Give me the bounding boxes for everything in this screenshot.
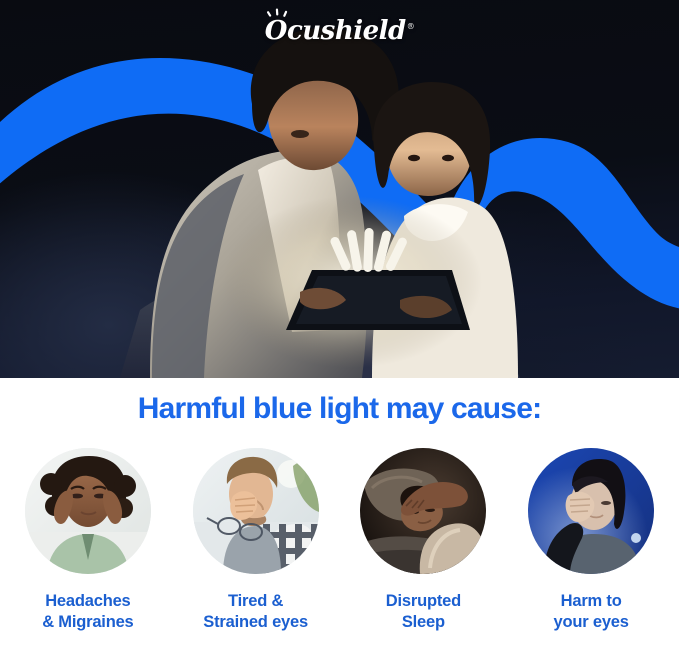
symptom-label-tired-eyes: Tired & Strained eyes: [203, 591, 308, 632]
promo-banner: Ocushield® Harmful blue light may cause:: [0, 0, 679, 661]
symptom-card-disrupted-sleep: Disrupted Sleep: [341, 448, 505, 632]
symptom-card-list: Headaches & Migraines: [0, 448, 679, 632]
symptom-label-eye-harm: Harm to your eyes: [554, 591, 629, 632]
woman-awake-in-bed-illustration: [360, 448, 486, 574]
headache-photo: [25, 448, 151, 574]
man-rubbing-eyes-illustration: [193, 448, 319, 574]
symptom-label-headaches: Headaches & Migraines: [42, 591, 133, 632]
disrupted-sleep-photo: [360, 448, 486, 574]
symptom-card-headaches: Headaches & Migraines: [6, 448, 170, 632]
symptom-card-eye-harm: Harm to your eyes: [509, 448, 673, 632]
symptom-card-tired-eyes: Tired & Strained eyes: [174, 448, 338, 632]
woman-headache-illustration: [25, 448, 151, 574]
hero-section: Ocushield®: [0, 0, 679, 378]
page-title: Harmful blue light may cause:: [0, 392, 679, 426]
hero-photo: [0, 0, 679, 378]
person-blue-screen-light-illustration: [528, 448, 654, 574]
symptom-label-disrupted-sleep: Disrupted Sleep: [386, 591, 461, 632]
eye-harm-photo: [528, 448, 654, 574]
tired-eyes-photo: [193, 448, 319, 574]
